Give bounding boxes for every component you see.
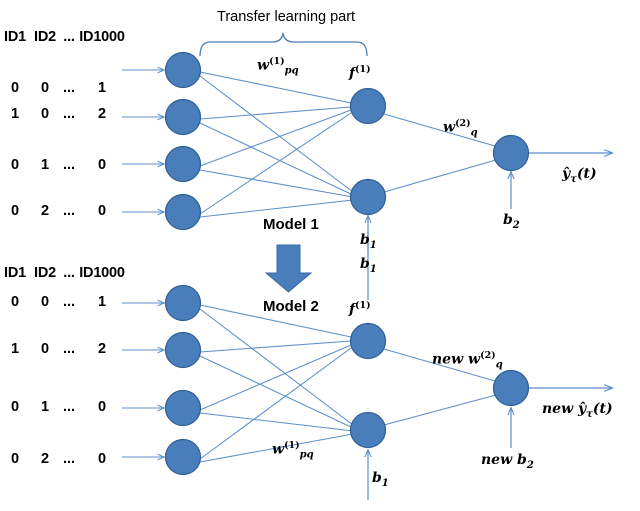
bottom-activation-label: f(1) [349,300,371,318]
cell: 1 [76,294,128,310]
transfer-learning-label: Transfer learning part [217,9,355,25]
w-superscript: (1) [269,56,285,67]
top-input-nodes [166,53,201,230]
b1-subscript: 1 [370,264,377,275]
top-hidden-nodes [351,89,386,215]
b1-subscript: 1 [382,478,389,489]
cell: 0 [76,399,128,415]
cell: 1 [76,80,128,96]
bottom-output-node [494,371,529,406]
bottom-output-label: new ŷτ(t) [542,401,613,420]
new-yhat-arg: (t) [593,401,613,417]
b1-symbol: b [360,232,370,248]
cell: 1 [30,157,60,173]
bottom-weights-layer1-label: w(1)pq [272,440,314,460]
new-w2-subscript: q [496,359,503,370]
bottom-input-nodes [166,286,201,475]
bottom-bias2-label: new b2 [481,452,534,471]
b1-symbol: b [360,256,370,272]
cell: 0 [30,106,60,122]
bottom-bias1-label: b1 [372,470,389,489]
top-header-cell-1: ID2 [30,29,60,45]
new-yhat-symbol: new ŷ [542,401,586,417]
transfer-down-arrow [266,245,311,292]
w-symbol: w [257,58,269,74]
w-subscript: pq [300,449,314,460]
cell: 1 [30,399,60,415]
cell: 2 [76,106,128,122]
cell: 0 [0,80,30,96]
bottom-input-arrows [122,303,164,457]
cell: 0 [76,451,128,467]
cell: 0 [30,294,60,310]
bottom-header-cell-0: ID1 [0,265,30,281]
cell: 0 [30,80,60,96]
cell: 0 [0,399,30,415]
cell: 0 [76,203,128,219]
new-w2-symbol: new w [432,352,480,368]
w-superscript: (1) [284,440,300,451]
top-header-cell-3: ID1000 [76,29,128,45]
figure-canvas: ID1 ID2 ... ID1000 0 0 ... 1 1 0 ... 2 0… [0,0,640,511]
b2-subscript: 2 [513,220,520,231]
cell: 1 [0,106,30,122]
bottom-weights-layer2-label: new w(2)q [432,350,503,370]
cell: 0 [0,451,30,467]
bottom-hidden-nodes [351,324,386,448]
top-bias-arrows [368,172,511,253]
cell: 0 [0,203,30,219]
bottom-header-cell-1: ID2 [30,265,60,281]
cell: 2 [30,451,60,467]
top-weights-layer2-label: w(2)q [443,118,478,138]
top-weights-layer1-label: w(1)pq [257,56,299,76]
transfer-learning-brace [200,33,367,56]
cell: 0 [0,294,30,310]
b1-symbol: b [372,470,382,486]
w2-subscript: q [471,127,478,138]
yhat-arg: (t) [577,166,597,182]
model-1-label: Model 1 [263,216,319,233]
w2-symbol: w [443,120,455,136]
b2-symbol: b [503,212,513,228]
model-2-label: Model 2 [263,298,319,315]
yhat-subscript: τ [570,174,577,185]
cell: 0 [0,157,30,173]
top-output-label: ŷτ(t) [562,166,597,185]
yhat-symbol: ŷ [562,166,570,182]
new-yhat-subscript: τ [586,409,593,420]
cell: 2 [76,341,128,357]
bottom-header-cell-3: ID1000 [76,265,128,281]
top-bias2-label: b2 [503,212,520,231]
top-output-node [494,136,529,171]
cell: 2 [30,203,60,219]
top-bias1-label: b1 [360,256,377,275]
top-layer2-edges [384,114,496,192]
cell: 0 [30,341,60,357]
w2-superscript: (2) [455,118,471,129]
new-b2-subscript: 2 [527,460,534,471]
f-superscript: (1) [355,64,371,75]
bottom-layer1-edges [200,305,353,462]
bottom-bias1-top-label: b1 [360,232,377,251]
b1-subscript: 1 [370,240,377,251]
w-symbol: w [272,442,284,458]
f-superscript: (1) [355,300,371,311]
top-activation-label: f(1) [349,64,371,82]
top-header-cell-0: ID1 [0,29,30,45]
cell: 0 [76,157,128,173]
top-layer1-edges [200,72,353,217]
diagram-vector-layer [0,0,640,511]
new-w2-superscript: (2) [480,350,496,361]
new-b2-symbol: new b [481,452,527,468]
w-subscript: pq [285,65,299,76]
top-input-arrows [122,70,164,212]
cell: 1 [0,341,30,357]
